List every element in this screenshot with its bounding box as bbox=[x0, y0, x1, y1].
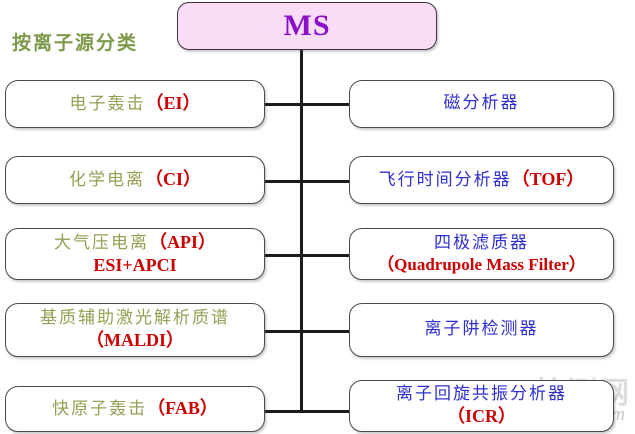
node-right-iontrap[interactable]: 离子阱检测器 bbox=[349, 303, 614, 357]
branch-left-5 bbox=[265, 410, 302, 413]
branch-right-4 bbox=[300, 330, 350, 333]
node-left-ei-cn: 电子轰击 bbox=[69, 95, 145, 114]
node-left-fab-abbr: （FAB） bbox=[147, 398, 218, 418]
node-right-tof-cn: 飞行时间分析器 bbox=[379, 171, 512, 190]
branch-right-1 bbox=[300, 103, 350, 106]
branch-right-5 bbox=[300, 410, 350, 413]
branch-left-1 bbox=[265, 103, 302, 106]
branch-left-3 bbox=[265, 254, 302, 257]
branch-right-3 bbox=[300, 254, 350, 257]
node-right-tof[interactable]: 飞行时间分析器 （TOF） bbox=[349, 156, 614, 204]
node-left-ei[interactable]: 电子轰击 （EI） bbox=[5, 80, 265, 128]
node-left-ci-abbr: （CI） bbox=[145, 169, 201, 189]
node-left-ci[interactable]: 化学电离 （CI） bbox=[5, 156, 265, 204]
branch-left-4 bbox=[265, 330, 302, 333]
node-left-api-cn: 大气压电离 bbox=[54, 234, 149, 253]
node-left-api-extra: ESI+APCI bbox=[93, 255, 176, 275]
node-right-quadrupole[interactable]: 四极滤质器 （Quadrupole Mass Filter） bbox=[349, 228, 614, 280]
node-root-ms[interactable]: MS bbox=[177, 2, 437, 50]
node-right-icr-extra: （ICR） bbox=[447, 406, 516, 426]
node-left-api-abbr: （API） bbox=[149, 232, 216, 252]
node-right-quadrupole-cn: 四极滤质器 bbox=[434, 234, 529, 253]
node-left-maldi-extra: （MALDI） bbox=[86, 330, 184, 350]
node-right-tof-abbr: （TOF） bbox=[512, 169, 585, 189]
node-left-api[interactable]: 大气压电离 （API） ESI+APCI bbox=[5, 228, 265, 280]
node-root-label: MS bbox=[284, 9, 331, 43]
node-left-fab[interactable]: 快原子轰击 （FAB） bbox=[5, 386, 265, 432]
node-left-ci-cn: 化学电离 bbox=[69, 171, 145, 190]
node-right-magnetic-cn: 磁分析器 bbox=[444, 94, 520, 113]
node-right-magnetic[interactable]: 磁分析器 bbox=[349, 80, 614, 128]
node-left-fab-cn: 快原子轰击 bbox=[52, 400, 147, 419]
node-left-maldi-cn: 基质辅助激光解析质谱 bbox=[40, 309, 230, 328]
node-right-quadrupole-extra: （Quadrupole Mass Filter） bbox=[377, 255, 586, 274]
node-left-ei-abbr: （EI） bbox=[145, 93, 200, 113]
node-left-maldi[interactable]: 基质辅助激光解析质谱 （MALDI） bbox=[5, 303, 265, 357]
diagram-heading: 按离子源分类 bbox=[12, 28, 138, 55]
node-right-icr-cn: 离子回旋共振分析器 bbox=[396, 385, 567, 404]
branch-right-2 bbox=[300, 180, 350, 183]
branch-left-2 bbox=[265, 180, 302, 183]
diagram-canvas: 检测网 Testing.com 按离子源分类 MS 电子轰击 （EI） 化学电离… bbox=[0, 0, 635, 434]
node-right-icr[interactable]: 离子回旋共振分析器 （ICR） bbox=[349, 380, 614, 432]
node-right-iontrap-cn: 离子阱检测器 bbox=[425, 320, 539, 339]
